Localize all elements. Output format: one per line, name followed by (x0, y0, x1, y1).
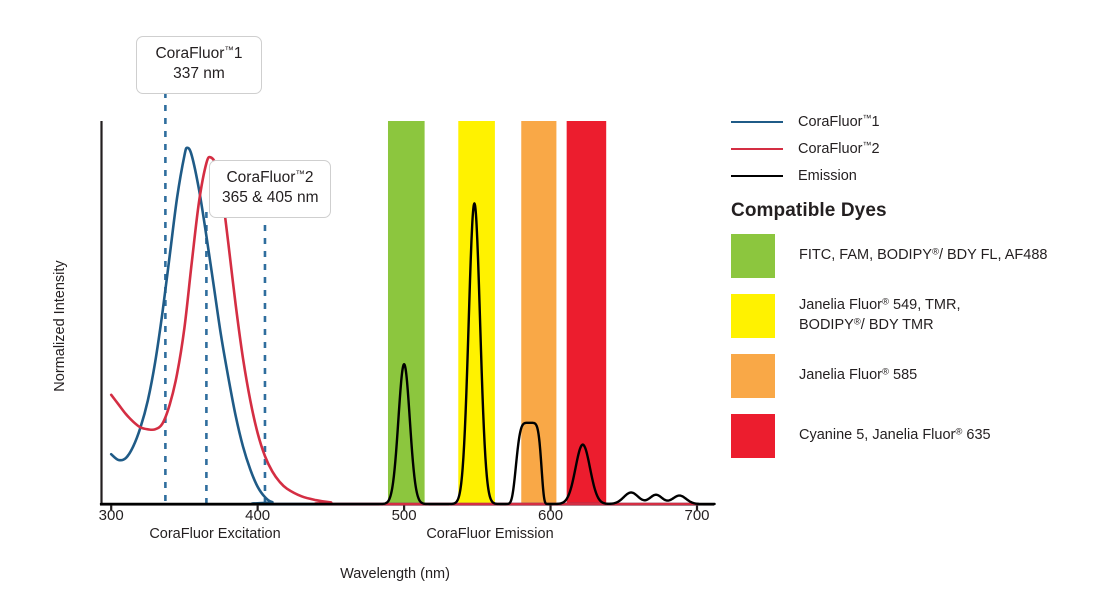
callout-cf2-index: 2 (305, 169, 314, 186)
dye-color-swatch (731, 354, 775, 398)
legend-item-label: CoraFluor™1 (798, 113, 880, 130)
legend-item-label: CoraFluor™2 (798, 140, 880, 157)
callout-cf2-value: 365 & 405 nm (222, 188, 318, 208)
legend-label-text: CoraFluor (798, 141, 862, 157)
trademark-symbol: ™ (224, 45, 234, 56)
green-band (388, 121, 425, 504)
series-legend: CoraFluor™1CoraFluor™2Emission (731, 108, 1101, 189)
dye-text-fragment: / BDY FL, AF488 (939, 247, 1048, 263)
dye-text-fragment: Cyanine 5, Janelia Fluor (799, 427, 955, 443)
x-tick-label-700: 700 (667, 507, 727, 524)
compatible-dyes-title: Compatible Dyes (731, 200, 887, 222)
x-axis-sublabel-emission: CoraFluor Emission (395, 526, 585, 542)
callout-corafluor1: CoraFluor™1 337 nm (136, 36, 262, 94)
dye-item-4: Cyanine 5, Janelia Fluor® 635 (731, 414, 1106, 458)
trademark-symbol: ™ (295, 169, 305, 180)
dye-text-fragment: Janelia Fluor (799, 297, 882, 313)
x-tick-label-400: 400 (228, 507, 288, 524)
callout-cf1-index: 1 (234, 45, 243, 62)
legend-label-text: Emission (798, 168, 857, 184)
dye-item-label: Cyanine 5, Janelia Fluor® 635 (799, 426, 991, 446)
dye-item-label: Janelia Fluor® 585 (799, 366, 917, 386)
dye-item-3: Janelia Fluor® 585 (731, 354, 1106, 398)
dye-text-fragment: BODIPY (799, 317, 854, 333)
dye-label-line-2: BODIPY®/ BDY TMR (799, 316, 960, 336)
registered-symbol: ® (882, 297, 889, 308)
x-tick-label-300: 300 (81, 507, 141, 524)
legend-item-1: CoraFluor™1 (731, 108, 1101, 135)
dye-text-fragment: 585 (889, 367, 917, 383)
dye-color-swatch (731, 294, 775, 338)
legend-item-2: CoraFluor™2 (731, 135, 1101, 162)
dye-label-line-1: Cyanine 5, Janelia Fluor® 635 (799, 426, 991, 446)
dye-text-fragment: FITC, FAM, BODIPY (799, 247, 932, 263)
legend-item-3: Emission (731, 162, 1101, 189)
x-axis-title: Wavelength (nm) (0, 566, 790, 582)
callout-cf1-line1: CoraFluor™1 (149, 44, 249, 64)
dye-text-fragment: / BDY TMR (861, 317, 934, 333)
dye-item-2: Janelia Fluor® 549, TMR,BODIPY®/ BDY TMR (731, 294, 1106, 338)
registered-symbol: ® (932, 246, 939, 257)
x-axis-sublabel-excitation: CoraFluor Excitation (120, 526, 310, 542)
callout-cf1-value: 337 nm (149, 64, 249, 84)
dye-text-fragment: Janelia Fluor (799, 367, 882, 383)
compatible-dyes-list: FITC, FAM, BODIPY®/ BDY FL, AF488Janelia… (731, 234, 1106, 474)
legend-line-swatch (731, 148, 783, 150)
registered-symbol: ® (854, 316, 861, 327)
band-group (388, 121, 606, 504)
callout-cf2-name: CoraFluor (226, 169, 295, 186)
dye-label-line-1: Janelia Fluor® 549, TMR, (799, 296, 960, 316)
y-axis-title: Normalized Intensity (52, 236, 68, 416)
registered-symbol: ® (882, 366, 889, 377)
callout-cf1-name: CoraFluor (155, 45, 224, 62)
legend-label-index: 2 (871, 141, 879, 157)
dye-label-line-1: FITC, FAM, BODIPY®/ BDY FL, AF488 (799, 246, 1047, 266)
dye-item-label: Janelia Fluor® 549, TMR,BODIPY®/ BDY TMR (799, 296, 960, 335)
dye-label-line-1: Janelia Fluor® 585 (799, 366, 917, 386)
dye-item-1: FITC, FAM, BODIPY®/ BDY FL, AF488 (731, 234, 1106, 278)
red-band (567, 121, 607, 504)
dye-text-fragment: 635 (962, 427, 990, 443)
dye-color-swatch (731, 414, 775, 458)
dye-text-fragment: 549, TMR, (889, 297, 960, 313)
legend-label-text: CoraFluor (798, 114, 862, 130)
legend-label-index: 1 (871, 114, 879, 130)
x-tick-label-600: 600 (521, 507, 581, 524)
dye-color-swatch (731, 234, 775, 278)
x-tick-label-500: 500 (374, 507, 434, 524)
legend-item-label: Emission (798, 168, 857, 184)
legend-line-swatch (731, 121, 783, 123)
callout-corafluor2: CoraFluor™2 365 & 405 nm (209, 160, 331, 218)
callout-cf2-line1: CoraFluor™2 (222, 168, 318, 188)
dye-item-label: FITC, FAM, BODIPY®/ BDY FL, AF488 (799, 246, 1047, 266)
legend-line-swatch (731, 175, 783, 177)
